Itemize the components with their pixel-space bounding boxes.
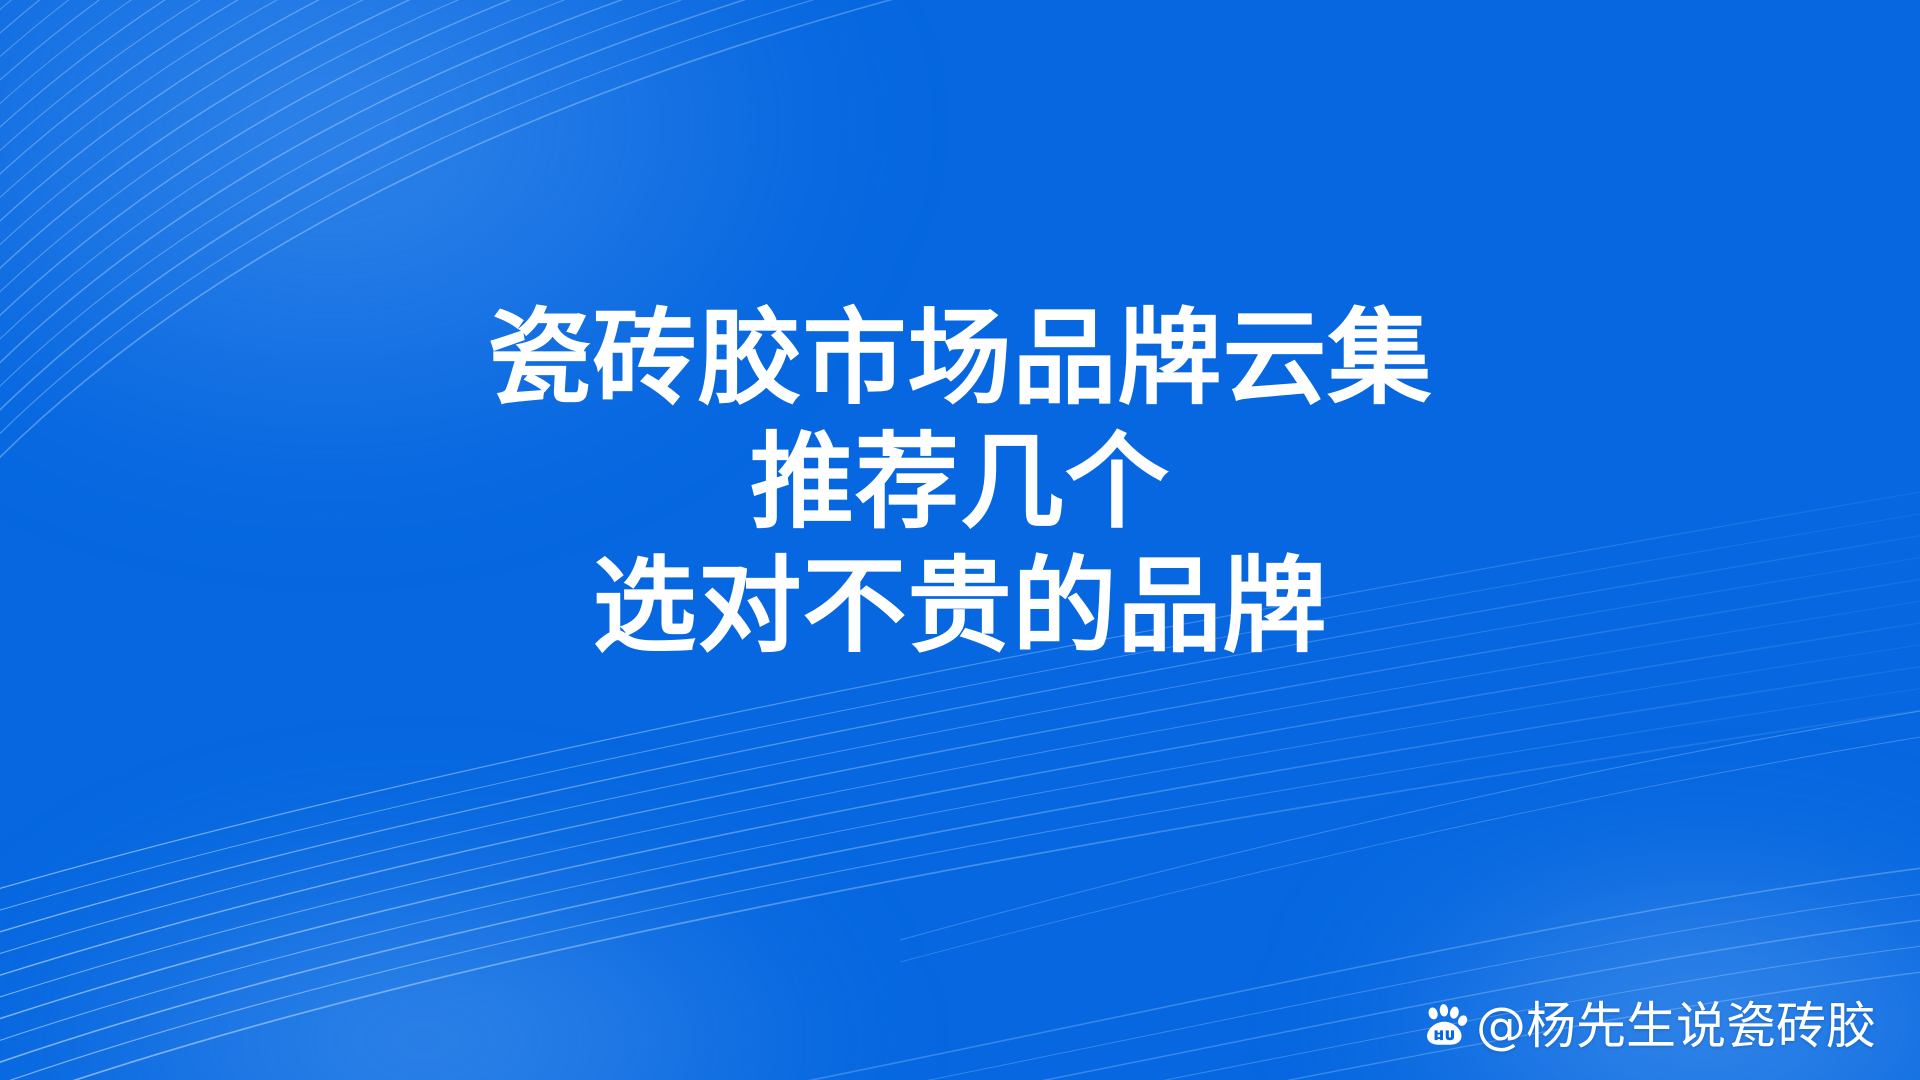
headline-line-3: 选对不贵的品牌: [0, 544, 1920, 668]
watermark: @杨先生说瓷砖胶: [1422, 998, 1876, 1054]
headline-line-2: 推荐几个: [0, 420, 1920, 544]
poster-canvas: 瓷砖胶市场品牌云集 推荐几个 选对不贵的品牌 @杨先生说瓷砖胶: [0, 0, 1920, 1080]
baidu-paw-logo-icon: [1422, 1003, 1468, 1049]
headline-block: 瓷砖胶市场品牌云集 推荐几个 选对不贵的品牌: [0, 296, 1920, 668]
watermark-handle: @杨先生说瓷砖胶: [1476, 998, 1876, 1054]
headline-line-1: 瓷砖胶市场品牌云集: [0, 296, 1920, 420]
glow-bottom-left: [0, 730, 1050, 1080]
